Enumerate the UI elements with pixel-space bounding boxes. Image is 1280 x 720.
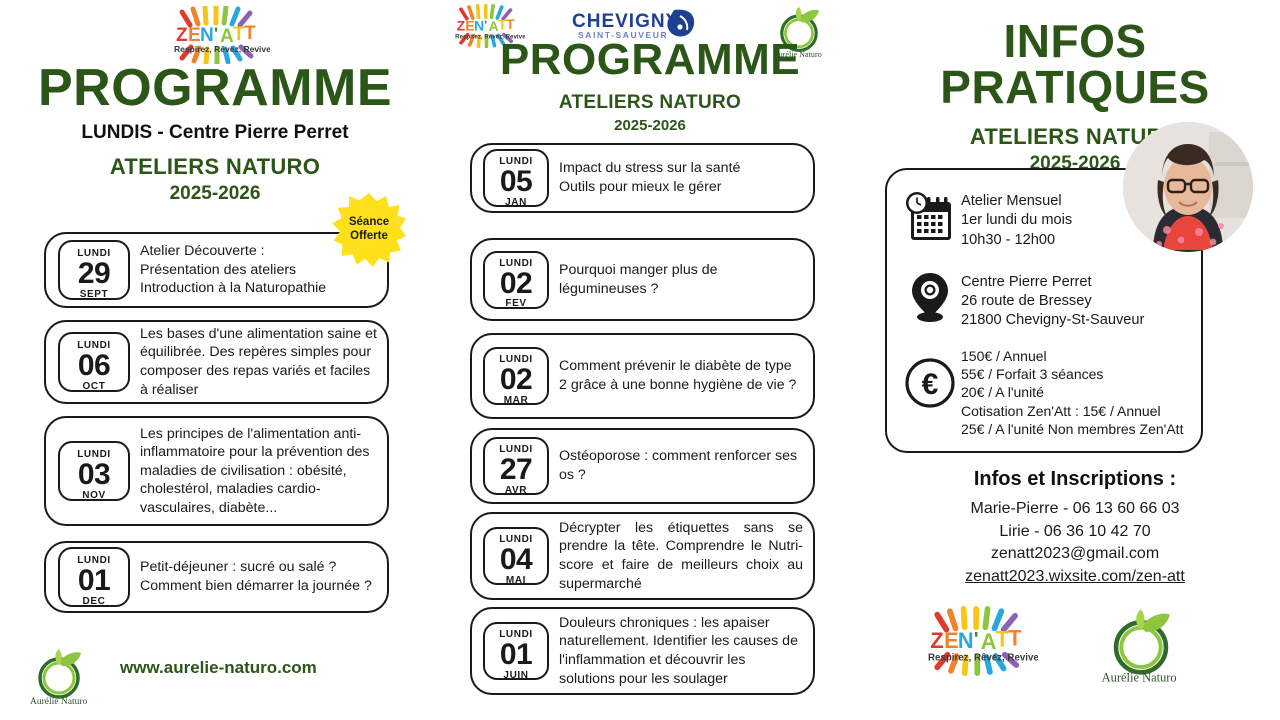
column-left: Z E N ' A T T Respirez, Rêvez, Revivez P… — [0, 0, 430, 720]
session-card[interactable]: LUNDI 01 JUIN Douleurs chroniques : les … — [470, 607, 815, 695]
free-session-line1: Séance — [349, 216, 389, 228]
date-badge: LUNDI 02 FEV — [483, 251, 549, 309]
svg-text:T: T — [1008, 626, 1022, 651]
contact-marie-pierre: Marie-Pierre - 06 13 60 66 03 — [870, 498, 1280, 521]
section-title-left: ATELIERS NATURO — [0, 154, 430, 180]
svg-text:N: N — [200, 25, 214, 46]
address-line-3: 21800 Chevigny-St-Sauveur — [961, 311, 1144, 330]
column-right: INFOS PRATIQUES ATELIERS NATURO 2025-202… — [870, 0, 1280, 720]
column-middle: Z E N ' A T T Respirez, Rêvez, Revivez C… — [430, 0, 870, 720]
poster-root: Z E N ' A T T Respirez, Rêvez, Revivez P… — [0, 0, 1280, 720]
badge-month: DEC — [60, 597, 128, 607]
badge-day: 27 — [485, 455, 547, 486]
info-text-pricing: 150€ / Annuel 55€ / Forfait 3 séances 20… — [961, 345, 1183, 439]
session-description: Atelier Découverte : Présentation des at… — [140, 242, 336, 298]
badge-month: SEPT — [60, 290, 128, 300]
badge-day: 04 — [485, 545, 547, 576]
badge-day: 01 — [60, 566, 128, 597]
date-badge: LUNDI 01 DEC — [58, 547, 130, 607]
session-card[interactable]: LUNDI 02 FEV Pourquoi manger plus de lég… — [470, 238, 815, 321]
contact-website-link[interactable]: zenatt2023.wixsite.com/zen-att — [870, 566, 1280, 589]
session-description: Les bases d'une alimentation saine et éq… — [140, 325, 387, 399]
badge-day: 01 — [485, 640, 547, 671]
info-row-pricing: € 150€ / Annuel 55€ / Forfait 3 séances … — [899, 345, 1201, 439]
svg-text:N: N — [474, 17, 484, 33]
session-description: Pourquoi manger plus de légumineuses ? — [559, 261, 813, 298]
session-description: Décrypter les étiquettes sans se prendre… — [559, 519, 813, 593]
schedule-line-1: Atelier Mensuel — [961, 192, 1072, 211]
svg-text:Z: Z — [930, 628, 943, 653]
address-line-2: 26 route de Bressey — [961, 292, 1144, 311]
svg-text:Aurélie Naturo: Aurélie Naturo — [1102, 671, 1177, 685]
session-card[interactable]: LUNDI 27 AVR Ostéoporose : comment renfo… — [470, 428, 815, 504]
session-card[interactable]: LUNDI 01 DEC Petit-déjeuner : sucré ou s… — [44, 541, 389, 613]
session-description: Les principes de l'alimentation anti-inf… — [140, 425, 387, 518]
price-line-5: 25€ / A l'unité Non membres Zen'Att — [961, 420, 1183, 438]
session-card[interactable]: LUNDI 02 MAR Comment prévenir le diabète… — [470, 333, 815, 419]
svg-text:Z: Z — [457, 17, 466, 33]
section-title-middle: ATELIERS NATURO — [430, 92, 870, 114]
svg-text:T: T — [506, 16, 515, 32]
badge-day: 03 — [60, 460, 128, 491]
svg-text:E: E — [465, 17, 474, 33]
info-row-address: Centre Pierre Perret 26 route de Bressey… — [899, 268, 1201, 331]
svg-text:A: A — [981, 629, 997, 654]
date-badge: LUNDI 29 SEPT — [58, 240, 130, 300]
badge-day: 06 — [60, 351, 128, 382]
contact-lirie: Lirie - 06 36 10 42 70 — [870, 521, 1280, 544]
info-text-address: Centre Pierre Perret 26 route de Bressey… — [961, 268, 1144, 331]
schedule-line-2: 1er lundi du mois — [961, 211, 1072, 230]
svg-text:E: E — [944, 628, 959, 653]
years-middle: 2025-2026 — [430, 117, 870, 134]
price-line-4: Cotisation Zen'Att : 15€ / Annuel — [961, 402, 1183, 420]
date-badge: LUNDI 01 JUIN — [483, 622, 549, 680]
price-line-1: 150€ / Annuel — [961, 347, 1183, 365]
session-card[interactable]: LUNDI 29 SEPT Atelier Découverte : Prése… — [44, 232, 389, 308]
zenatt-tagline: Respirez, Rêvez, Revivez — [174, 44, 270, 54]
session-description: Comment prévenir le diabète de type 2 gr… — [559, 357, 813, 394]
price-line-2: 55€ / Forfait 3 séances — [961, 365, 1183, 383]
date-badge: LUNDI 27 AVR — [483, 437, 549, 495]
contact-heading: Infos et Inscriptions : — [870, 468, 1280, 491]
page-title-middle: PROGRAMME — [430, 38, 870, 82]
badge-month: JAN — [485, 198, 547, 208]
page-title-left: PROGRAMME — [0, 62, 430, 114]
session-card[interactable]: LUNDI 04 MAI Décrypter les étiquettes sa… — [470, 512, 815, 600]
info-text-schedule: Atelier Mensuel 1er lundi du mois 10h30 … — [961, 188, 1072, 250]
session-card[interactable]: LUNDI 05 JAN Impact du stress sur la san… — [470, 143, 815, 213]
session-description: Impact du stress sur la santé Outils pou… — [559, 159, 750, 196]
badge-day: 29 — [60, 259, 128, 290]
euro-icon: € — [899, 345, 961, 427]
session-card[interactable]: LUNDI 03 NOV Les principes de l'alimenta… — [44, 416, 389, 526]
location-pin-icon — [899, 268, 961, 326]
zenatt-logo: Z E N ' A T T Respirez, Rêvez, Revivez — [912, 605, 1038, 682]
chevigny-line1: CHEVIGNY — [572, 11, 679, 32]
badge-month: JUIN — [485, 671, 547, 681]
aurelie-logo-label: Aurélie Naturo — [30, 697, 87, 707]
aurelie-naturo-logo: Aurélie Naturo — [1095, 608, 1187, 697]
svg-text:': ' — [484, 18, 487, 32]
calendar-clock-icon — [899, 188, 961, 248]
badge-month: FEV — [485, 299, 547, 309]
website-url-left[interactable]: www.aurelie-naturo.com — [120, 658, 317, 678]
session-description: Petit-déjeuner : sucré ou salé ? Comment… — [140, 558, 382, 595]
contact-email[interactable]: zenatt2023@gmail.com — [870, 543, 1280, 566]
svg-text:N: N — [958, 628, 974, 653]
date-badge: LUNDI 03 NOV — [58, 441, 130, 501]
svg-text:E: E — [188, 25, 201, 46]
badge-month: MAR — [485, 396, 547, 406]
svg-text:Z: Z — [176, 25, 188, 46]
svg-text:': ' — [974, 629, 979, 651]
session-description: Ostéoporose : comment renforcer ses os ? — [559, 447, 813, 484]
page-title-right: INFOS PRATIQUES — [870, 18, 1280, 110]
subtitle-venue: LUNDIS - Centre Pierre Perret — [0, 122, 430, 144]
portrait-photo — [1123, 122, 1253, 252]
badge-day: 02 — [485, 269, 547, 300]
badge-month: AVR — [485, 486, 547, 496]
date-badge: LUNDI 04 MAI — [483, 527, 549, 585]
svg-text:A: A — [489, 18, 499, 34]
date-badge: LUNDI 05 JAN — [483, 149, 549, 207]
svg-text:T: T — [244, 23, 256, 44]
aurelie-naturo-logo: Aurélie Naturo — [28, 648, 90, 717]
free-session-line2: Offerte — [350, 230, 388, 242]
badge-day: 02 — [485, 365, 547, 396]
badge-month: MAI — [485, 576, 547, 586]
date-badge: LUNDI 06 OCT — [58, 332, 130, 392]
svg-text:Respirez, Rêvez, Revivez: Respirez, Rêvez, Revivez — [928, 652, 1038, 663]
session-card[interactable]: LUNDI 06 OCT Les bases d'une alimentatio… — [44, 320, 389, 404]
badge-day: 05 — [485, 167, 547, 198]
date-badge: LUNDI 02 MAR — [483, 347, 549, 405]
badge-month: NOV — [60, 491, 128, 501]
price-line-3: 20€ / A l'unité — [961, 383, 1183, 401]
schedule-line-3: 10h30 - 12h00 — [961, 231, 1072, 250]
svg-text:€: € — [922, 368, 939, 401]
badge-month: OCT — [60, 382, 128, 392]
address-line-1: Centre Pierre Perret — [961, 273, 1144, 292]
svg-text:': ' — [214, 24, 218, 43]
session-description: Douleurs chroniques : les apaiser nature… — [559, 614, 813, 688]
